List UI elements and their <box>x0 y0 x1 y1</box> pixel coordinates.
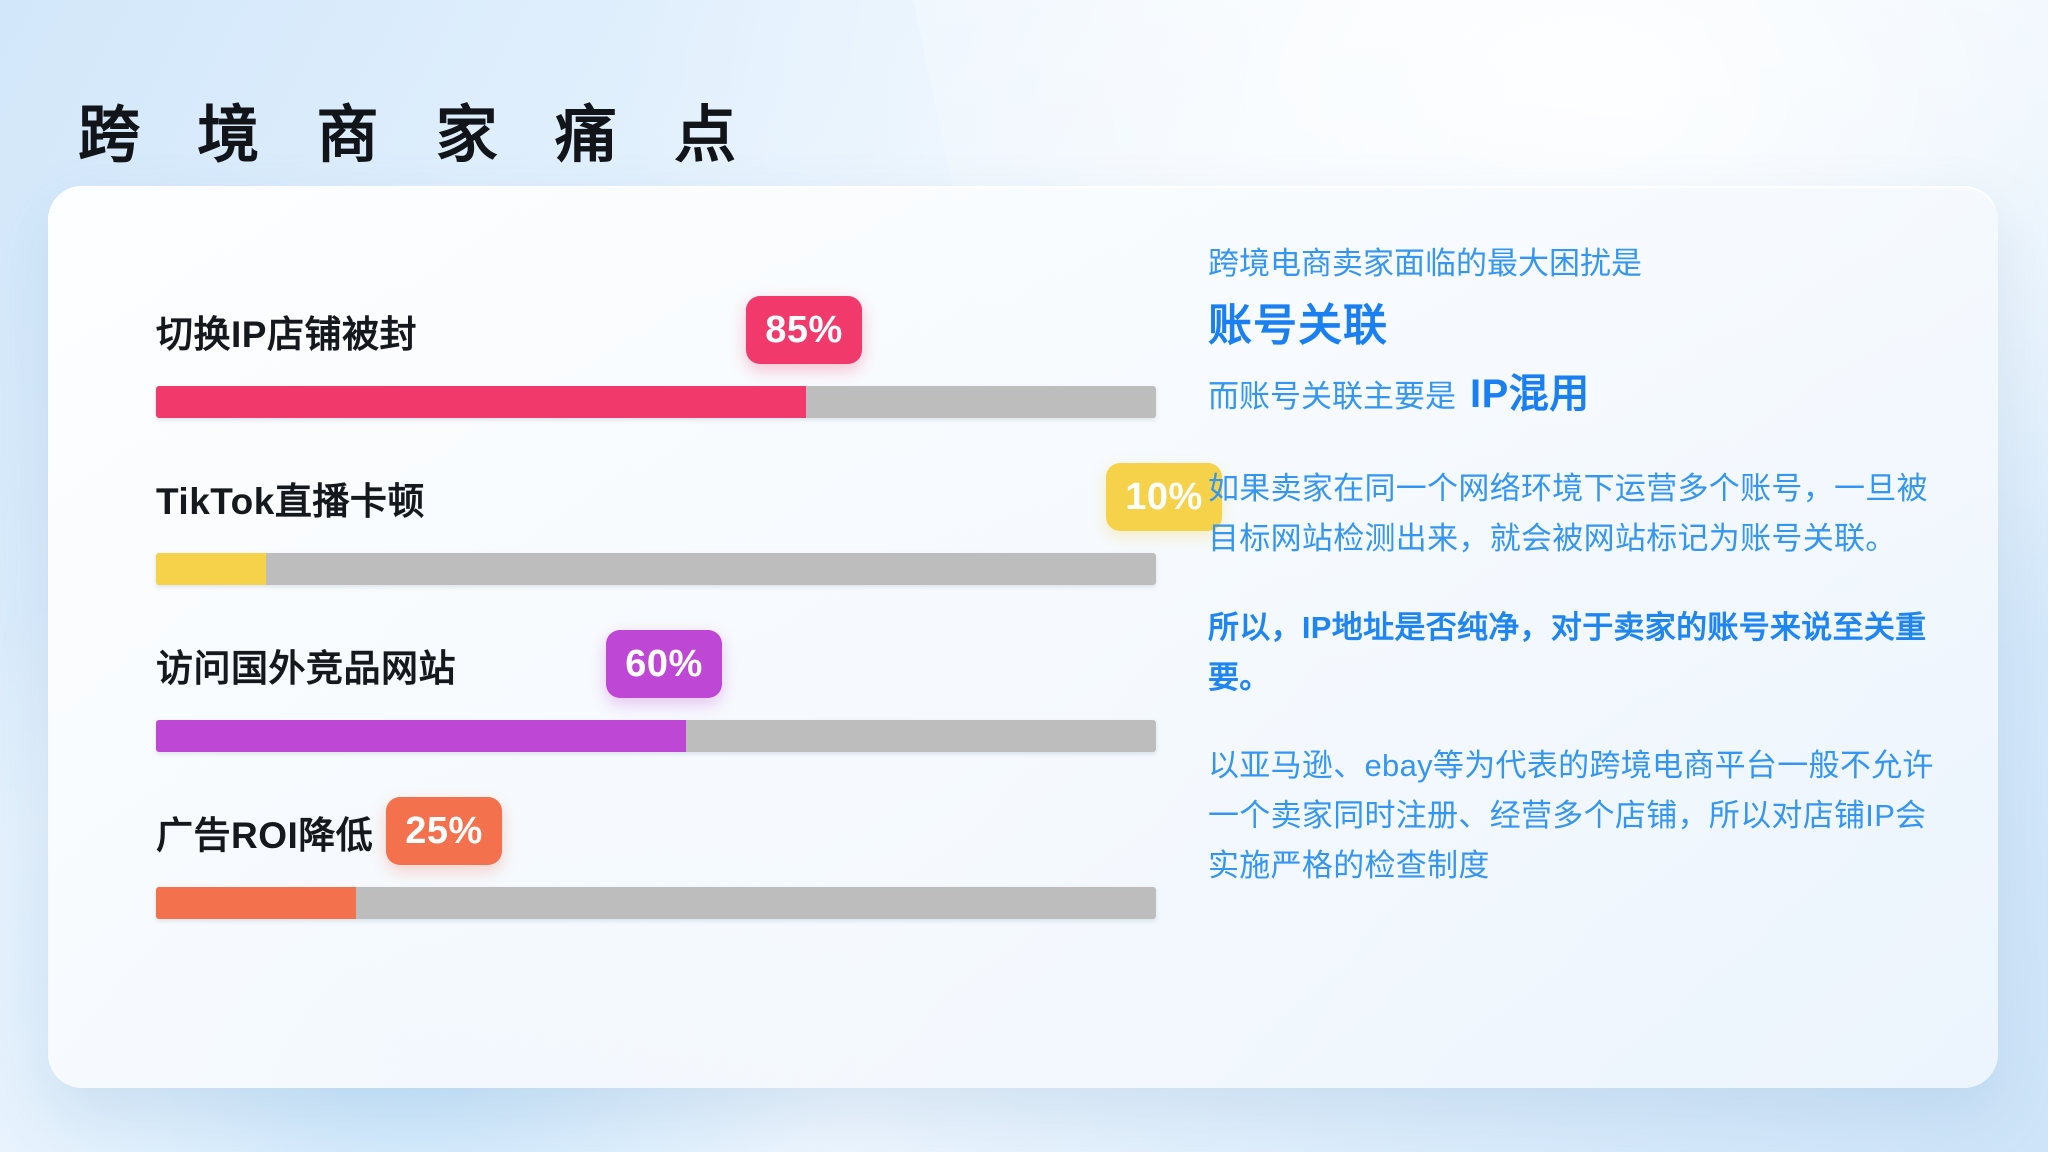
copy-lead: 跨境电商卖家面临的最大困扰是 <box>1208 242 1948 287</box>
bar-fill <box>156 553 266 585</box>
bar-header: 切换IP店铺被封 85% <box>108 280 1168 366</box>
explanation-panel: 跨境电商卖家面临的最大困扰是 账号关联 而账号关联主要是IP混用 如果卖家在同一… <box>1208 242 1948 892</box>
copy-paragraph-3: 以亚马逊、ebay等为代表的跨境电商平台一般不允许一个卖家同时注册、经营多个店铺… <box>1208 741 1948 892</box>
bar-label: 访问国外竞品网站 <box>156 638 456 692</box>
bar-header: 访问国外竞品网站 60% <box>108 614 1168 700</box>
bar-value-badge: 10% <box>1106 463 1222 531</box>
bar-row: 切换IP店铺被封 85% <box>108 280 1168 430</box>
bar-label: 切换IP店铺被封 <box>156 304 417 358</box>
copy-inline-prefix: 而账号关联主要是 <box>1208 379 1456 414</box>
page-title: 跨 境 商 家 痛 点 <box>78 102 756 170</box>
bar-fill <box>156 386 806 418</box>
bar-fill <box>156 720 686 752</box>
bar-header: TikTok直播卡顿 10% <box>108 447 1168 533</box>
bar-header: 广告ROI降低 25% <box>108 781 1168 867</box>
copy-emphasis: 账号关联 <box>1208 297 1948 354</box>
bar-value-badge: 60% <box>606 630 722 698</box>
copy-inline-line: 而账号关联主要是IP混用 <box>1208 366 1948 422</box>
bar-row: 访问国外竞品网站 60% <box>108 614 1168 764</box>
bar-value-badge: 85% <box>746 296 862 364</box>
copy-paragraph-2: 所以，IP地址是否纯净，对于卖家的账号来说至关重要。 <box>1208 603 1948 703</box>
content-card: 切换IP店铺被封 85% TikTok直播卡顿 10% 访问国外竞品网站 <box>48 186 1998 1088</box>
bar-value-badge: 25% <box>386 797 502 865</box>
bar-row: 广告ROI降低 25% <box>108 781 1168 931</box>
copy-inline-strong: IP混用 <box>1470 372 1590 416</box>
slide-root: 跨 境 商 家 痛 点 切换IP店铺被封 85% TikTok直播卡顿 10% <box>0 0 2048 1152</box>
bar-track <box>156 553 1156 585</box>
bar-track <box>156 887 1156 919</box>
copy-paragraph-1: 如果卖家在同一个网络环境下运营多个账号，一旦被目标网站检测出来，就会被网站标记为… <box>1208 464 1948 564</box>
bar-fill <box>156 887 356 919</box>
pain-point-bar-chart: 切换IP店铺被封 85% TikTok直播卡顿 10% 访问国外竞品网站 <box>108 242 1168 1032</box>
bar-track <box>156 386 1156 418</box>
bar-track <box>156 720 1156 752</box>
bar-row: TikTok直播卡顿 10% <box>108 447 1168 597</box>
bar-label: TikTok直播卡顿 <box>156 471 425 525</box>
bar-label: 广告ROI降低 <box>156 805 373 859</box>
